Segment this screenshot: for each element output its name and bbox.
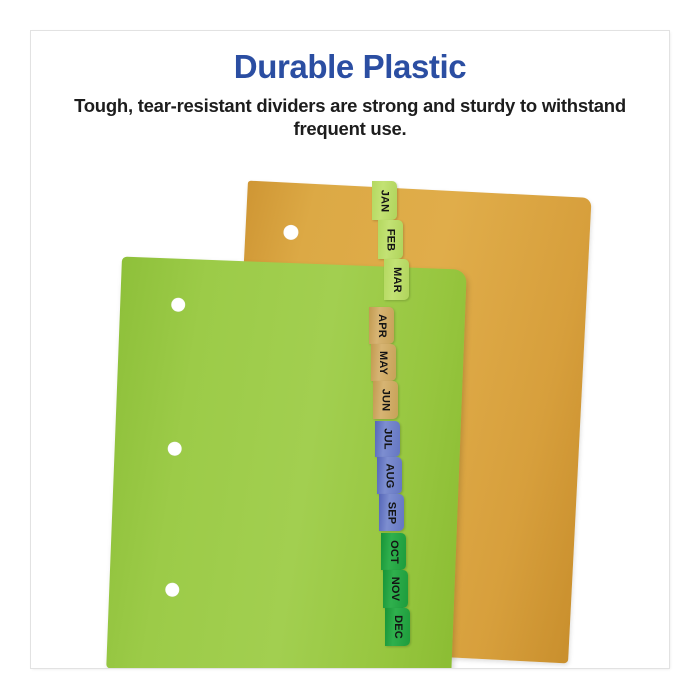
index-tab-may-label: MAY xyxy=(377,350,389,374)
index-tab-apr: APR xyxy=(369,307,394,344)
page-title: Durable Plastic xyxy=(31,50,669,85)
index-tab-dec-label: DEC xyxy=(391,615,403,639)
green-divider-hole-punch-top xyxy=(171,297,186,312)
index-tab-feb: FEB xyxy=(378,220,403,259)
headline-block: Durable Plastic Tough, tear-resistant di… xyxy=(31,50,669,141)
index-tab-apr-label: APR xyxy=(375,314,387,338)
index-tab-sep: SEP xyxy=(379,494,404,531)
index-tab-dec: DEC xyxy=(385,608,410,646)
index-tab-oct: OCT xyxy=(381,533,406,570)
index-tab-jun: JUN xyxy=(373,381,398,419)
index-tab-aug-label: AUG xyxy=(384,463,396,488)
product-feature-card: Durable Plastic Tough, tear-resistant di… xyxy=(31,31,669,668)
index-tab-mar: MAR xyxy=(384,259,409,300)
green-divider-hole-punch-bottom xyxy=(165,582,180,597)
index-tab-nov-label: NOV xyxy=(390,577,402,601)
index-tab-oct-label: OCT xyxy=(387,540,399,564)
index-tab-sep-label: SEP xyxy=(386,501,398,524)
index-tab-jun-label: JUN xyxy=(379,389,391,412)
green-divider-hole-punch-middle xyxy=(167,441,182,456)
green-divider-sheet xyxy=(106,257,467,668)
index-tab-feb-label: FEB xyxy=(384,228,396,251)
index-tab-jan-label: JAN xyxy=(378,189,390,212)
index-tab-jul-label: JUL xyxy=(381,428,393,449)
index-tab-nov: NOV xyxy=(383,570,408,608)
product-photo: JAN FEB MAR APR MAY JUN JUL AUG SEP OC xyxy=(31,131,669,668)
orange-divider-hole-punch xyxy=(283,224,299,240)
index-tab-jan: JAN xyxy=(372,181,397,220)
index-tab-jul: JUL xyxy=(375,421,400,457)
index-tab-may: MAY xyxy=(371,344,396,381)
index-tab-mar-label: MAR xyxy=(391,267,403,293)
index-tab-aug: AUG xyxy=(377,457,402,494)
